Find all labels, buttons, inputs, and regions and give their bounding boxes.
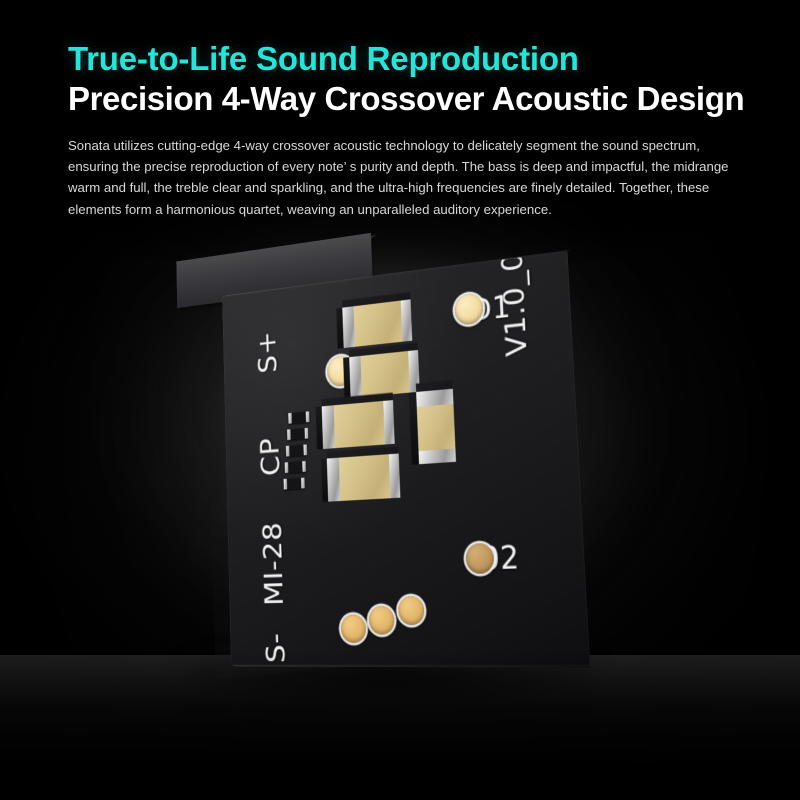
resistor-array-element [287,428,308,440]
chip-terminal-bottom [419,449,456,465]
silkscreen-pin-positive: S+ [253,329,283,375]
subheadline: Precision 4-Way Crossover Acoustic Desig… [68,80,754,118]
chip-side-face [409,392,419,465]
resistor-array-element [284,478,305,490]
resistor-array-element [286,444,307,456]
body-paragraph: Sonata utilizes cutting-edge 4-way cross… [68,135,740,221]
chip-body [353,301,402,347]
chip-front-face [416,389,456,465]
board-edge-bottom [231,665,594,668]
silkscreen-pin-negative: S- [261,632,291,663]
chip-terminal-right [389,454,401,499]
silkscreen-model: MI-28 [258,521,289,606]
solder-pad-bottom-3 [398,596,425,625]
solder-pad-d2 [465,543,494,574]
chip-front-face [327,454,401,502]
silkscreen-cp: CP [256,436,286,476]
chip-body [339,454,391,501]
chip-top-face [416,380,453,392]
pcb-board: S+ CP MI-28 S- V1.0_0809 D1 02 [222,251,590,666]
chip-terminal-top [416,389,453,407]
chip-front-face [322,400,395,449]
headline: True-to-Life Sound Reproduction [68,40,754,78]
chip-front-face [349,350,420,398]
solder-pad-bottom-1 [341,614,367,643]
chip-body [334,401,385,448]
silkscreen-diode2: 02 [480,540,520,578]
chip-terminal-right [408,350,420,393]
chip-terminal-right [383,400,394,444]
solder-pad-d1 [454,293,483,326]
chip-body [417,404,456,451]
chip-front-face [342,299,412,348]
board-front-face: S+ CP MI-28 S- V1.0_0809 D1 02 [222,251,590,666]
marketing-copy: True-to-Life Sound Reproduction Precisio… [0,0,800,220]
solder-pad-bottom-2 [369,606,395,635]
product-feature-banner: S- 02 S+ CP MI-28 S- V1.0_0809 D1 02 [0,0,800,800]
resistor-array-element [285,461,306,473]
resistor-array-element [288,411,309,423]
silkscreen-diode1: D1 [469,289,512,329]
chip-body [360,351,409,397]
chip-terminal-right [401,299,413,341]
